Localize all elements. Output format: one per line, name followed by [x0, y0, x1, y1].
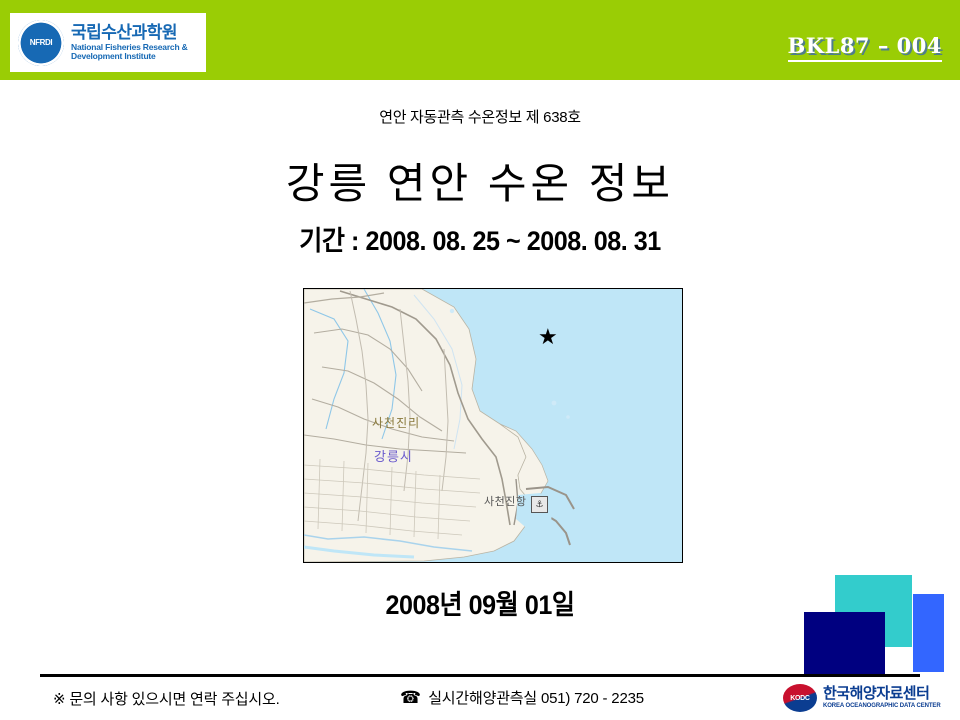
- location-map: 사천진리 강릉시 사천진항: [303, 288, 683, 563]
- nfrdi-logo: NFRDI 국립수산과학원 National Fisheries Researc…: [10, 13, 206, 72]
- document-code: BKL87 – 004: [788, 33, 942, 62]
- nfrdi-emblem-icon: NFRDI: [18, 20, 64, 66]
- map-graphic: 사천진리 강릉시 사천진항: [304, 289, 682, 562]
- footer-contact: ☎ 실시간해양관측실 051) 720 - 2235: [400, 687, 644, 708]
- nfrdi-name-english-line1: National Fisheries Research &: [71, 43, 188, 52]
- telephone-icon: ☎: [400, 689, 421, 706]
- nfrdi-name-english-line2: Development Institute: [71, 52, 188, 61]
- kodc-name-english: KOREA OCEANOGRAPHIC DATA CENTER: [823, 703, 941, 709]
- report-date: 2008년 09월 01일: [34, 583, 927, 622]
- map-label-village: 사천진리: [372, 415, 420, 430]
- nfrdi-name-korean: 국립수산과학원: [71, 24, 188, 41]
- footer-phone-text: 실시간해양관측실 051) 720 - 2235: [428, 687, 644, 708]
- port-facility-icon: ⚓: [531, 496, 548, 513]
- kodc-logo: KODC 한국해양자료센터 KOREA OCEANOGRAPHIC DATA C…: [783, 684, 941, 712]
- page-title: 강릉 연안 수온 정보: [0, 150, 960, 211]
- footer-notice: ※ 문의 사항 있으시면 연락 주십시오.: [53, 688, 280, 709]
- nfrdi-emblem-label: NFRDI: [30, 38, 52, 47]
- decoration-square-navy: [804, 612, 885, 674]
- decoration-square-blue: [913, 594, 944, 672]
- map-label-port: 사천진항: [484, 494, 526, 508]
- kodc-emblem-label: KODC: [790, 695, 809, 702]
- observation-station-marker: ★: [538, 326, 558, 348]
- nfrdi-wordmark: 국립수산과학원 National Fisheries Research & De…: [71, 24, 188, 61]
- report-subtitle: 연안 자동관측 수온정보 제 638호: [0, 106, 960, 127]
- kodc-wordmark: 한국해양자료센터 KOREA OCEANOGRAPHIC DATA CENTER: [823, 686, 941, 709]
- kodc-emblem-icon: KODC: [783, 684, 817, 712]
- map-label-city: 강릉시: [374, 449, 413, 464]
- footer-divider: [40, 674, 920, 677]
- header-band: NFRDI 국립수산과학원 National Fisheries Researc…: [0, 0, 960, 80]
- kodc-name-korean: 한국해양자료센터: [823, 686, 941, 702]
- observation-period: 기간 : 2008. 08. 25 ~ 2008. 08. 31: [34, 219, 927, 258]
